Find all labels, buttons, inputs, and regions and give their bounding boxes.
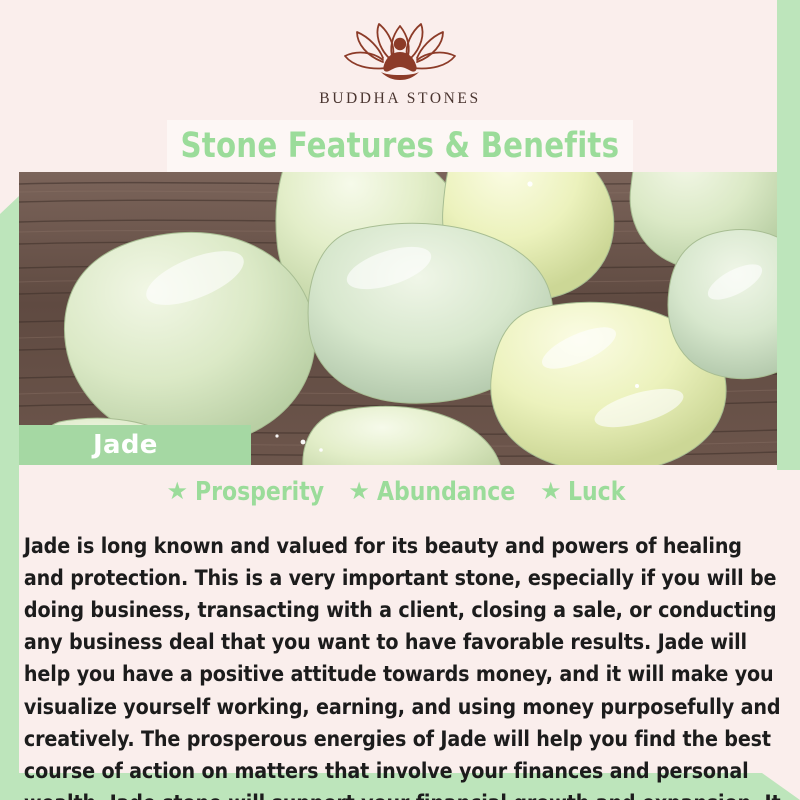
benefit-item-abundance: ★ Abundance <box>348 477 524 507</box>
stone-description: Jade is long known and valued for its be… <box>19 531 782 800</box>
benefit-item-luck: ★ Luck <box>540 477 630 507</box>
star-icon: ★ <box>348 480 370 504</box>
benefit-label: Abundance <box>377 477 515 507</box>
stone-photo <box>19 172 777 465</box>
benefits-row: ★ Prosperity ★ Abundance ★ Luck <box>19 476 777 508</box>
decorative-green-bar-left <box>0 196 19 800</box>
benefit-label: Luck <box>568 477 625 507</box>
star-icon: ★ <box>167 480 189 504</box>
brand-logo: BUDDHA STONES <box>0 22 800 117</box>
brand-name: BUDDHA STONES <box>319 90 480 108</box>
benefit-item-prosperity: ★ Prosperity <box>167 477 333 507</box>
star-icon: ★ <box>540 480 562 504</box>
lotus-meditation-icon <box>325 22 475 84</box>
benefit-label: Prosperity <box>195 477 324 507</box>
stone-name-band: Jade <box>19 425 251 465</box>
stone-info-card: BUDDHA STONES Stone Features & Benefits <box>0 0 800 800</box>
stone-name: Jade <box>93 430 158 460</box>
page-title: Stone Features & Benefits <box>181 126 620 166</box>
title-banner: Stone Features & Benefits <box>167 120 633 172</box>
